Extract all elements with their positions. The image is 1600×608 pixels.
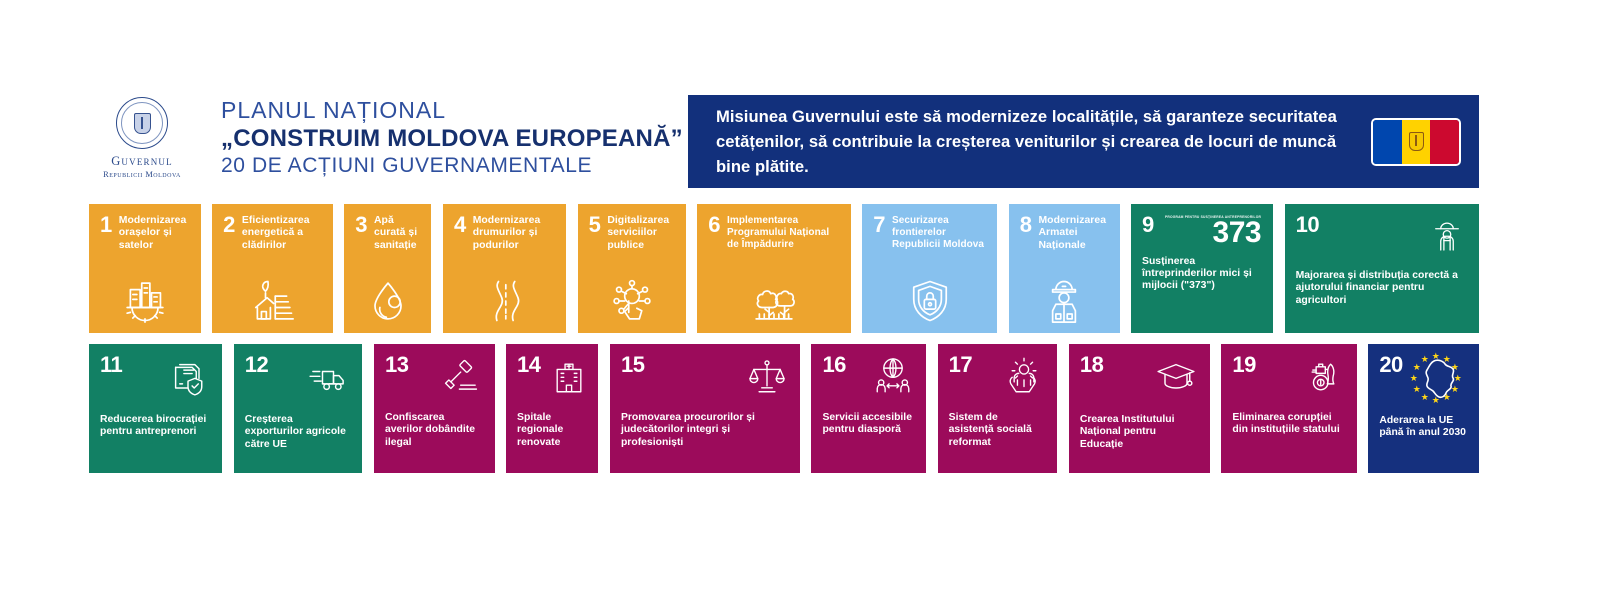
- forest-trees-icon: [697, 275, 850, 327]
- action-card-2[interactable]: 2Eficientizarea energetică a clădirilor: [212, 204, 333, 333]
- card-row-1: 1Modernizarea orașelor și satelor2Eficie…: [89, 204, 1479, 333]
- action-card-7[interactable]: 7Securizarea frontierelor Republicii Mol…: [862, 204, 997, 333]
- globe-people-icon: [872, 355, 914, 402]
- card-number: 13: [385, 355, 408, 376]
- card-number: 12: [245, 355, 268, 376]
- program-373-logo: PROGRAM PENTRU SUSȚINEREA ANTREPRENORILO…: [1165, 215, 1261, 246]
- gavel-icon: [441, 355, 483, 402]
- card-title: Spitale regionale renovate: [517, 412, 586, 449]
- water-drop-icon: [344, 275, 431, 327]
- justice-scales-icon: [746, 355, 788, 402]
- card-number: 17: [949, 355, 972, 376]
- card-number: 1: [100, 215, 112, 236]
- flag-crest: [1409, 132, 1424, 151]
- card-title: Apă curată și sanitație: [374, 215, 419, 252]
- card-title: Crearea Institutului Național pentru Edu…: [1080, 414, 1198, 451]
- card-title: Implementarea Programului Național de Îm…: [727, 215, 839, 250]
- card-number: 7: [873, 215, 885, 236]
- moldova-state-seal-icon: [116, 97, 168, 149]
- brand-block: Guvernul Republicii Moldova PLANUL NAȚIO…: [89, 88, 689, 188]
- eu-moldova-map-icon: ★★★★★★★★★★★★: [1410, 355, 1467, 405]
- card-header: 8Modernizarea Armatei Naționale: [1020, 215, 1108, 252]
- page-title-line1: PLANUL NAȚIONAL: [221, 96, 683, 124]
- digital-hand-icon: [578, 275, 686, 327]
- card-title: Modernizarea drumurilor și podurilor: [473, 215, 554, 252]
- card-title: Modernizarea orașelor și satelor: [119, 215, 189, 252]
- flag-stripe-red: [1430, 120, 1459, 164]
- hospital-icon: [548, 355, 590, 402]
- program-373-number: 373: [1213, 220, 1262, 246]
- delivery-truck-icon: [306, 355, 350, 404]
- mission-banner: Misiunea Guvernului este să modernizeze …: [688, 95, 1479, 188]
- card-title: Eliminarea corupției din instituțiile st…: [1232, 412, 1344, 437]
- card-header: 19: [1232, 355, 1344, 402]
- card-number: 19: [1232, 355, 1255, 376]
- road-icon: [443, 275, 566, 327]
- card-title: Confiscarea averilor dobândite ilegal: [385, 412, 483, 449]
- card-title: Digitalizarea serviciilor publice: [607, 215, 673, 252]
- caring-hands-icon: [1003, 355, 1045, 402]
- action-card-15[interactable]: 15Promovarea procurorilor și judecătoril…: [610, 344, 800, 473]
- action-card-14[interactable]: 14Spitale regionale renovate: [506, 344, 598, 473]
- seal-shield-shape: [134, 113, 151, 134]
- card-number: 20: [1379, 355, 1402, 376]
- mission-statement: Misiunea Guvernului este să modernizeze …: [716, 104, 1357, 180]
- card-number: 5: [589, 215, 601, 236]
- page-title-line2: „CONSTRUIM MOLDOVA EUROPEANĂ”: [221, 124, 683, 153]
- card-header: 2Eficientizarea energetică a clădirilor: [223, 215, 321, 252]
- card-header: 13: [385, 355, 483, 402]
- card-number: 9: [1142, 215, 1154, 236]
- card-header: 11: [100, 355, 210, 404]
- card-header: 6Implementarea Programului Național de Î…: [708, 215, 838, 250]
- page-title-line3: 20 DE ACȚIUNI GUVERNAMENTALE: [221, 153, 683, 179]
- card-title: Majorarea și distribuția corectă a ajuto…: [1296, 270, 1467, 307]
- document-shield-icon: [166, 355, 210, 404]
- infographic-page: Guvernul Republicii Moldova PLANUL NAȚIO…: [0, 0, 1600, 608]
- card-header: 3Apă curată și sanitație: [355, 215, 419, 252]
- card-header: 7Securizarea frontierelor Republicii Mol…: [873, 215, 985, 250]
- card-header: 14: [517, 355, 586, 402]
- action-card-16[interactable]: 16Servicii accesibile pentru diasporă: [811, 344, 926, 473]
- card-header: 17: [949, 355, 1046, 402]
- card-header: 4Modernizarea drumurilor și podurilor: [454, 215, 554, 252]
- anti-corruption-lock-icon: [1303, 355, 1345, 402]
- card-row-2: 11Reducerea birocrației pentru antrepren…: [89, 344, 1479, 473]
- flag-stripe-yellow: [1402, 120, 1431, 164]
- soldier-icon: [1009, 275, 1120, 327]
- program-373-subtitle: PROGRAM PENTRU SUSȚINEREA ANTREPRENORILO…: [1165, 215, 1261, 219]
- card-number: 16: [822, 355, 845, 376]
- action-card-8[interactable]: 8Modernizarea Armatei Naționale: [1009, 204, 1120, 333]
- card-number: 4: [454, 215, 466, 236]
- card-number: 2: [223, 215, 235, 236]
- graduation-cap-icon: [1154, 355, 1198, 404]
- card-title: Servicii accesibile pentru diasporă: [822, 412, 914, 437]
- card-header: 12: [245, 355, 351, 404]
- card-header: 18: [1080, 355, 1198, 404]
- card-title: Securizarea frontierelor Republicii Mold…: [892, 215, 985, 250]
- government-emblem: Guvernul Republicii Moldova: [89, 97, 181, 179]
- card-header: 1Modernizarea orașelor și satelor: [100, 215, 189, 252]
- card-number: 11: [100, 355, 122, 376]
- emblem-line2: Republicii Moldova: [103, 170, 181, 179]
- farmer-icon: [1427, 215, 1467, 260]
- card-number: 18: [1080, 355, 1103, 376]
- moldova-flag-icon: [1371, 118, 1461, 166]
- card-header: 16: [822, 355, 914, 402]
- flag-stripe-blue: [1373, 120, 1402, 164]
- card-header: 15: [621, 355, 788, 402]
- action-card-9[interactable]: 9PROGRAM PENTRU SUSȚINEREA ANTREPRENORIL…: [1131, 204, 1273, 333]
- action-card-20[interactable]: 20★★★★★★★★★★★★Aderarea la UE până în anu…: [1368, 344, 1479, 473]
- card-header: 10: [1296, 215, 1467, 260]
- action-card-13[interactable]: 13Confiscarea averilor dobândite ilegal: [374, 344, 495, 473]
- card-title: Eficientizarea energetică a clădirilor: [242, 215, 321, 252]
- card-title: Promovarea procurorilor și judecătorilor…: [621, 412, 788, 449]
- card-title: Modernizarea Armatei Naționale: [1038, 215, 1107, 252]
- eco-house-icon: [212, 275, 333, 327]
- card-number: 6: [708, 215, 720, 236]
- card-title: Sistem de asistență socială reformat: [949, 412, 1046, 449]
- card-number: 3: [355, 215, 367, 236]
- action-card-10[interactable]: 10Majorarea și distribuția corectă a aju…: [1285, 204, 1479, 333]
- action-card-4[interactable]: 4Modernizarea drumurilor și podurilor: [443, 204, 566, 333]
- shield-lock-icon: [862, 275, 997, 327]
- card-header: 20★★★★★★★★★★★★: [1379, 355, 1467, 405]
- card-number: 14: [517, 355, 540, 376]
- action-card-grid: 1Modernizarea orașelor și satelor2Eficie…: [89, 204, 1479, 473]
- action-card-1[interactable]: 1Modernizarea orașelor și satelor: [89, 204, 201, 333]
- action-card-5[interactable]: 5Digitalizarea serviciilor publice: [578, 204, 686, 333]
- action-card-19[interactable]: 19Eliminarea corupției din instituțiile …: [1221, 344, 1356, 473]
- action-card-11[interactable]: 11Reducerea birocrației pentru antrepren…: [89, 344, 222, 473]
- card-title: Susținerea întreprinderilor mici și mijl…: [1142, 256, 1261, 293]
- action-card-17[interactable]: 17Sistem de asistență socială reformat: [938, 344, 1058, 473]
- action-card-12[interactable]: 12Creșterea exporturilor agricole către …: [234, 344, 363, 473]
- card-header: 5Digitalizarea serviciilor publice: [589, 215, 674, 252]
- card-header: 9PROGRAM PENTRU SUSȚINEREA ANTREPRENORIL…: [1142, 215, 1261, 246]
- action-card-18[interactable]: 18Crearea Institutului Național pentru E…: [1069, 344, 1210, 473]
- action-card-6[interactable]: 6Implementarea Programului Național de Î…: [697, 204, 850, 333]
- card-number: 10: [1296, 215, 1319, 236]
- card-title: Aderarea la UE până în anul 2030: [1379, 415, 1467, 440]
- emblem-line1: Guvernul: [111, 154, 173, 169]
- card-title: Creșterea exporturilor agricole către UE: [245, 414, 351, 451]
- card-title: Reducerea birocrației pentru antreprenor…: [100, 414, 210, 439]
- action-card-3[interactable]: 3Apă curată și sanitație: [344, 204, 431, 333]
- city-gear-icon: [89, 275, 201, 327]
- title-block: PLANUL NAȚIONAL „CONSTRUIM MOLDOVA EUROP…: [221, 96, 683, 180]
- card-number: 15: [621, 355, 644, 376]
- card-number: 8: [1020, 215, 1032, 236]
